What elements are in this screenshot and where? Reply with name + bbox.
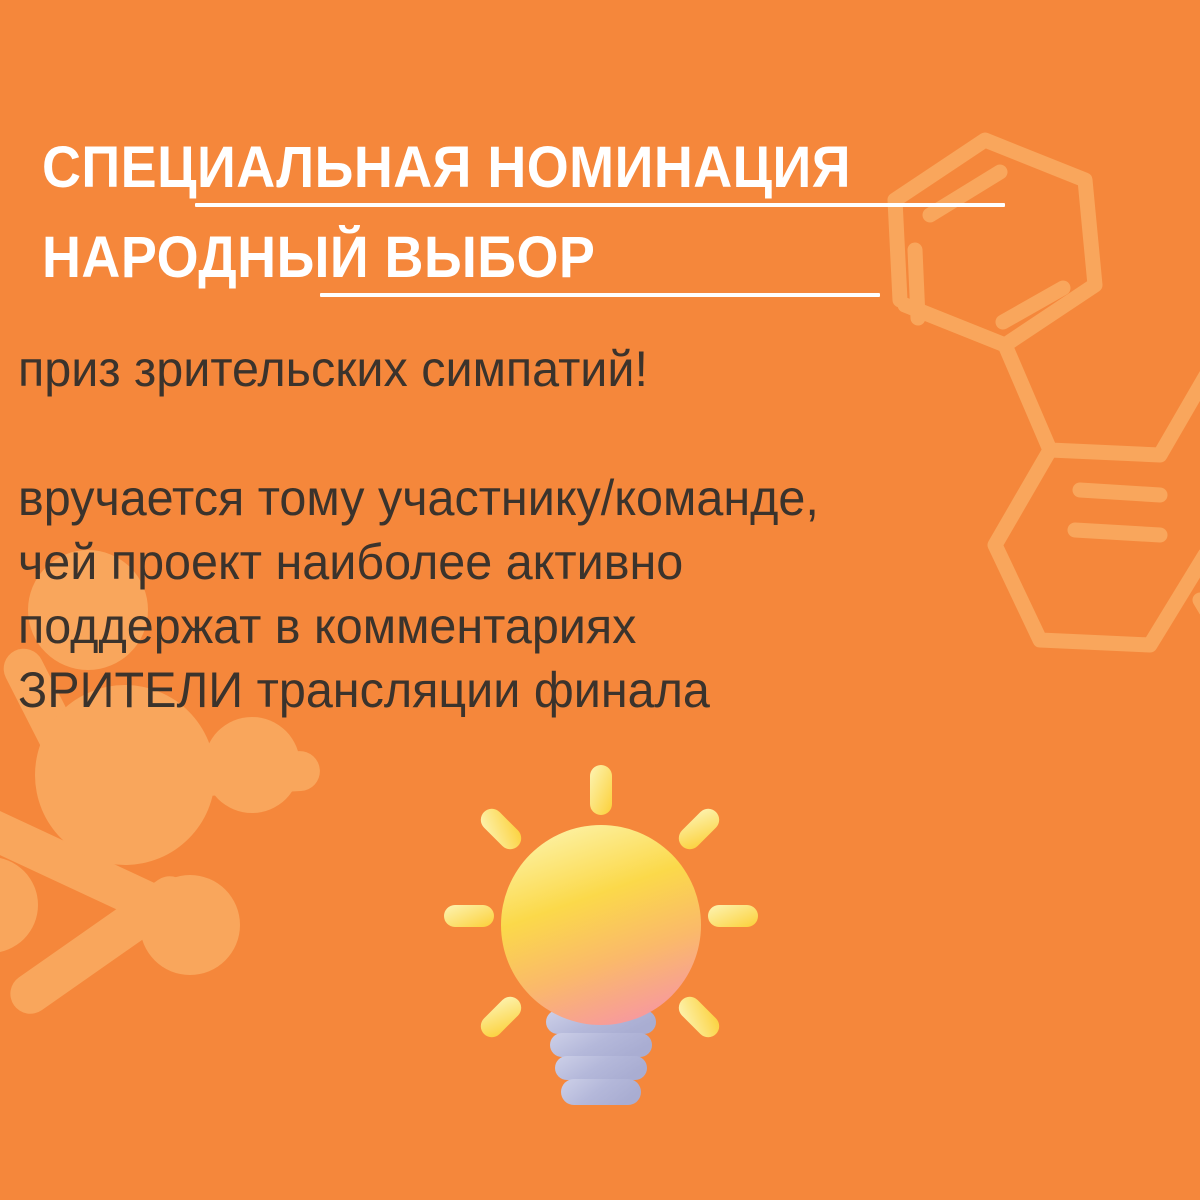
description-line-1: вручается тому участнику/команде, <box>18 466 1182 530</box>
title-block: СПЕЦИАЛЬНАЯ НОМИНАЦИЯ НАРОДНЫЙ ВЫБОР <box>0 136 1200 316</box>
lightbulb-illustration <box>420 745 780 1105</box>
description-line-2: чей проект наиболее активно <box>18 530 1182 594</box>
subtitle-text: приз зрительских симпатий! <box>18 340 1182 398</box>
title-underline-2 <box>320 293 880 297</box>
description-paragraph: вручается тому участнику/команде, чей пр… <box>18 466 1182 722</box>
description-line-3: поддержат в комментариях <box>18 594 1182 658</box>
page-title-line-1: СПЕЦИАЛЬНАЯ НОМИНАЦИЯ <box>42 136 1158 200</box>
lightbulb-glass <box>501 825 701 1025</box>
poster-canvas: СПЕЦИАЛЬНАЯ НОМИНАЦИЯ НАРОДНЫЙ ВЫБОР при… <box>0 0 1200 1200</box>
page-title-line-2: НАРОДНЫЙ ВЫБОР <box>42 226 1158 290</box>
title-underline-1 <box>195 203 1005 207</box>
description-line-4: ЗРИТЕЛИ трансляции финала <box>18 658 1182 722</box>
